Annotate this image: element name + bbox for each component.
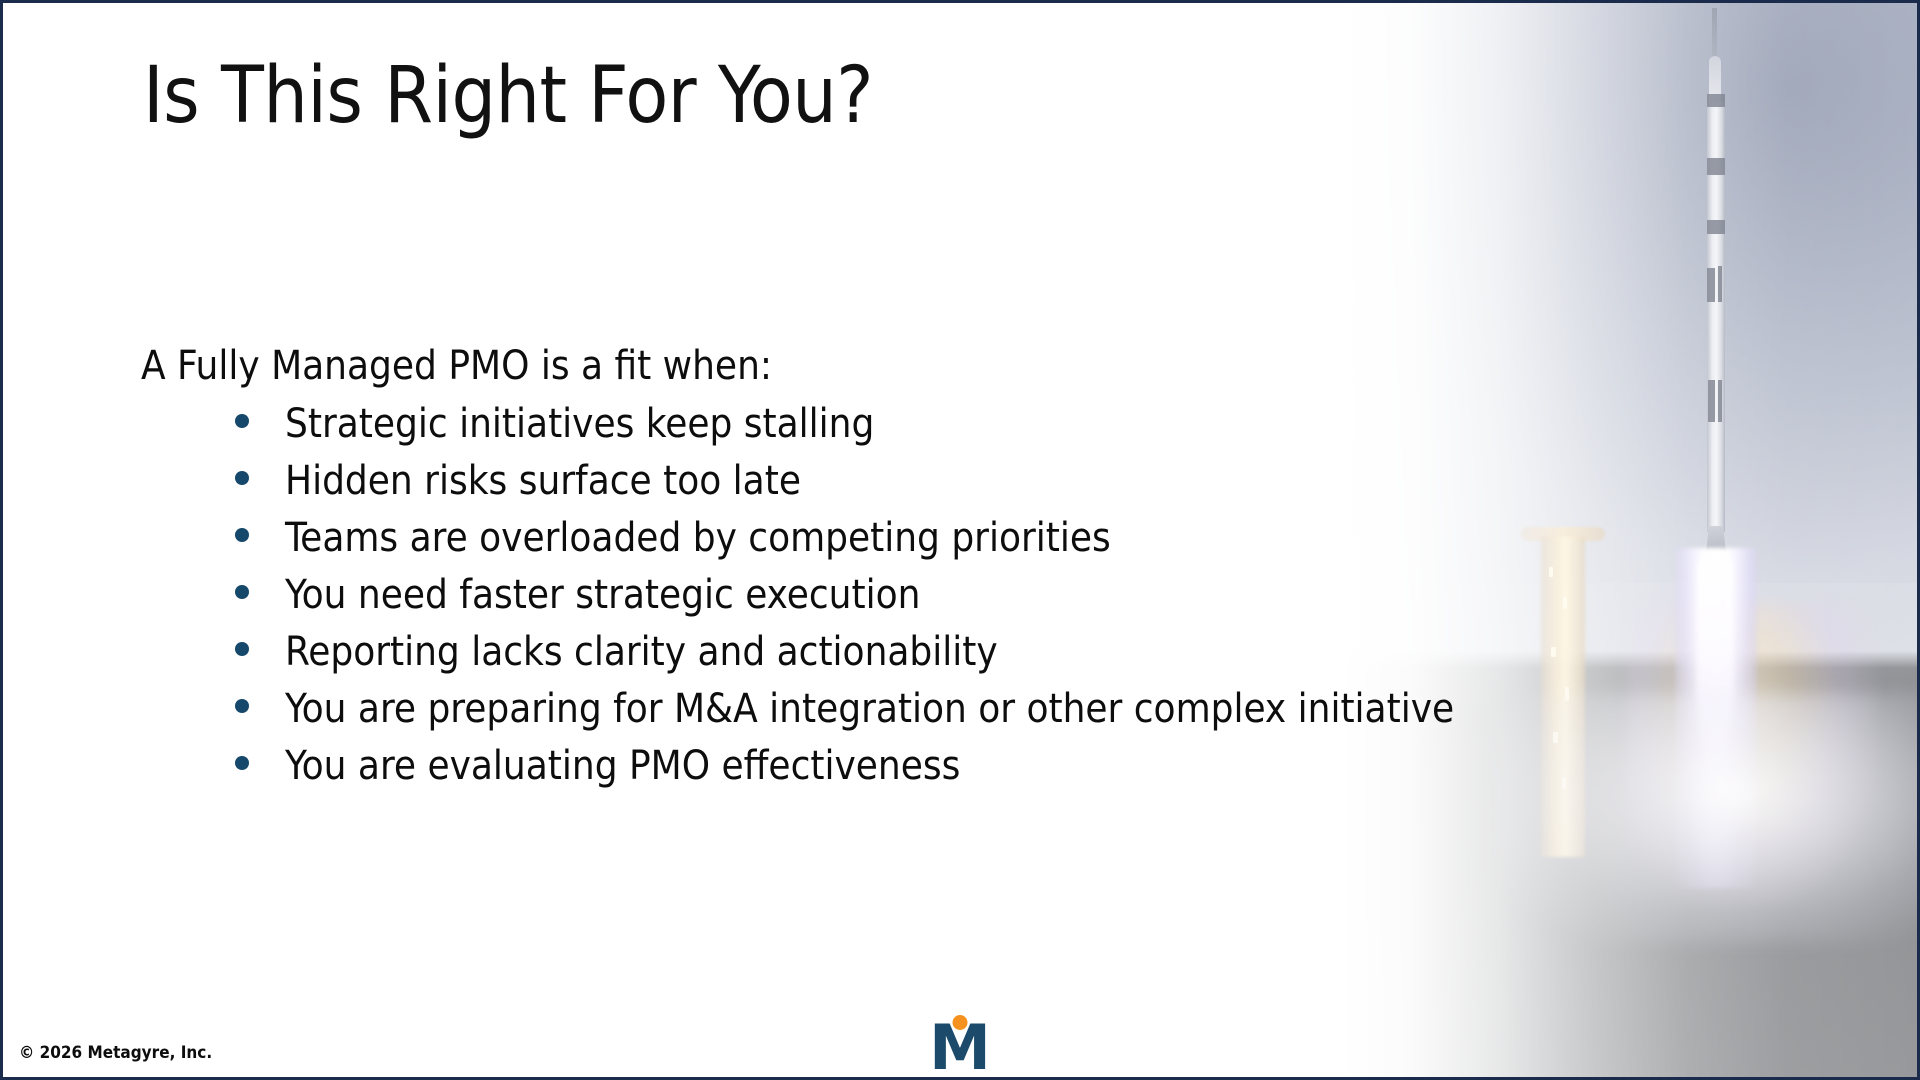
metagyre-logo: M — [924, 1013, 996, 1077]
bullet-item: Strategic initiatives keep stalling — [235, 401, 1454, 458]
bullet-text: Hidden risks surface too late — [285, 458, 801, 504]
bullet-dot-icon — [235, 471, 249, 485]
gantry-column — [1541, 537, 1585, 857]
logo-letter: M — [924, 1019, 996, 1077]
rocket-engine-skirt — [1705, 526, 1727, 562]
bullet-text: Strategic initiatives keep stalling — [285, 401, 874, 447]
rocket-band — [1707, 94, 1725, 107]
bullet-dot-icon — [235, 642, 249, 656]
bullet-list: Strategic initiatives keep stalling Hidd… — [235, 401, 1454, 800]
bullet-dot-icon — [235, 756, 249, 770]
rocket-marking — [1718, 380, 1722, 422]
rocket-body — [1703, 8, 1729, 568]
launch-gantry — [1529, 527, 1599, 857]
rocket-nose-cone — [1709, 56, 1721, 106]
bullet-dot-icon — [235, 699, 249, 713]
bullet-text: You need faster strategic execution — [285, 572, 920, 618]
rocket-stage — [1707, 102, 1725, 532]
bullet-text: You are evaluating PMO effectiveness — [285, 743, 960, 789]
slide: Is This Right For You? A Fully Managed P… — [0, 0, 1920, 1080]
exhaust-plume-core — [1697, 551, 1733, 761]
slide-title: Is This Right For You? — [143, 51, 873, 141]
rocket-marking — [1708, 380, 1715, 422]
bullet-text: Teams are overloaded by competing priori… — [285, 515, 1111, 561]
rocket-marking — [1718, 266, 1722, 302]
bullet-dot-icon — [235, 414, 249, 428]
launch-smoke — [1497, 693, 1917, 943]
gantry-arm — [1521, 527, 1605, 541]
rocket-band — [1707, 158, 1725, 175]
bullet-item: You are evaluating PMO effectiveness — [235, 743, 1454, 800]
bullet-item: You are preparing for M&A integration or… — [235, 686, 1454, 743]
rocket-marking — [1707, 268, 1715, 302]
bullet-item: Teams are overloaded by competing priori… — [235, 515, 1454, 572]
exhaust-glow — [1627, 603, 1877, 903]
bullet-item: Hidden risks surface too late — [235, 458, 1454, 515]
bullet-text: You are preparing for M&A integration or… — [285, 686, 1454, 732]
bullet-item: You need faster strategic execution — [235, 572, 1454, 629]
escape-tower — [1712, 8, 1717, 62]
rocket-band — [1707, 220, 1725, 234]
exhaust-plume — [1675, 548, 1757, 888]
bullet-item: Reporting lacks clarity and actionabilit… — [235, 629, 1454, 686]
copyright-notice: © 2026 Metagyre, Inc. — [19, 1043, 212, 1063]
lead-in-text: A Fully Managed PMO is a fit when: — [141, 343, 772, 389]
bullet-dot-icon — [235, 585, 249, 599]
bullet-dot-icon — [235, 528, 249, 542]
bullet-text: Reporting lacks clarity and actionabilit… — [285, 629, 998, 675]
